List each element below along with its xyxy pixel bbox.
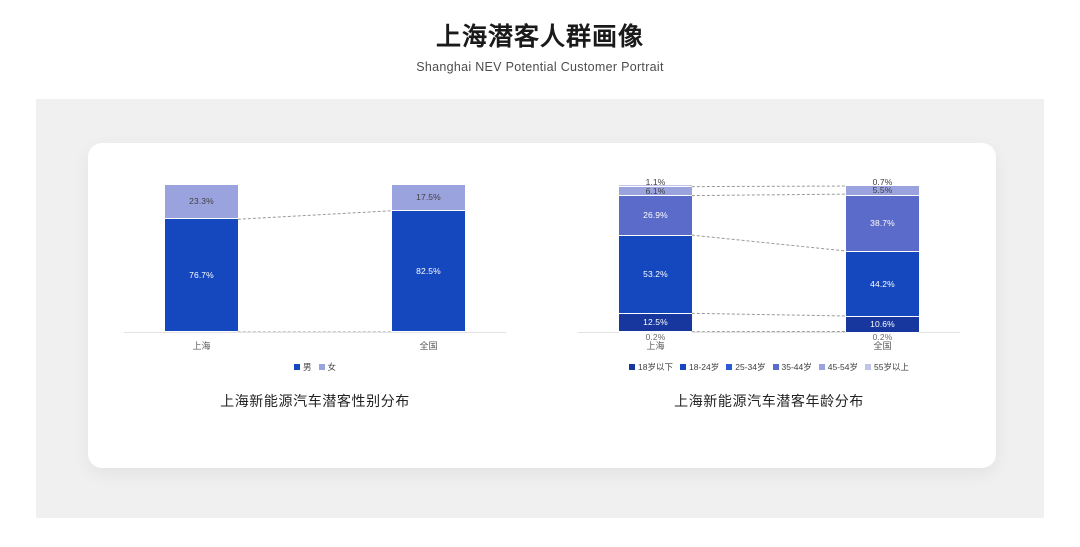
page-header: 上海潜客人群画像 Shanghai NEV Potential Customer… (0, 0, 1080, 74)
legend-swatch-icon (726, 364, 732, 370)
chart-legend: 男女 (88, 361, 542, 373)
segment-value-label: 5.5% (873, 186, 893, 195)
bar-segment[interactable]: 10.6% (846, 317, 919, 333)
legend-swatch-icon (773, 364, 779, 370)
legend-swatch-icon (865, 364, 871, 370)
bar-segment[interactable]: 17.5% (392, 185, 465, 211)
legend-item[interactable]: 35-44岁 (773, 361, 812, 373)
bar-segment[interactable]: 26.9% (619, 196, 692, 236)
bar-segment[interactable]: 82.5% (392, 211, 465, 332)
legend-item[interactable]: 55岁以上 (865, 361, 909, 373)
category-axis: 上海全国 (542, 339, 996, 355)
segment-value-label: 53.2% (643, 270, 668, 279)
axis-line (124, 332, 505, 333)
bar-age-上海[interactable]: 1.1%6.1%26.9%53.2%12.5%0.2% (619, 185, 692, 332)
legend-label: 18-24岁 (689, 361, 719, 373)
legend-item[interactable]: 女 (319, 361, 337, 373)
legend-label: 男 (303, 361, 312, 373)
chart-age: 1.1%6.1%26.9%53.2%12.5%0.2%0.7%5.5%38.7%… (542, 143, 996, 468)
legend-swatch-icon (629, 364, 635, 370)
bar-segment[interactable]: 76.7% (165, 219, 238, 332)
legend-swatch-icon (319, 364, 325, 370)
bar-stack: 1.1%6.1%26.9%53.2%12.5%0.2% (619, 185, 692, 332)
legend-item[interactable]: 45-54岁 (819, 361, 858, 373)
legend-label: 35-44岁 (782, 361, 812, 373)
bar-gender-全国[interactable]: 17.5%82.5% (392, 185, 465, 332)
chart-gender: 23.3%76.7%17.5%82.5%上海全国男女上海新能源汽车潜客性别分布 (88, 143, 542, 468)
legend-swatch-icon (294, 364, 300, 370)
category-label: 上海 (192, 339, 210, 352)
legend-label: 45-54岁 (828, 361, 858, 373)
bar-stack: 23.3%76.7% (165, 185, 238, 332)
bar-segment[interactable]: 44.2% (846, 252, 919, 317)
legend-item[interactable]: 18-24岁 (680, 361, 719, 373)
segment-value-label: 12.5% (643, 318, 668, 327)
category-label: 全国 (873, 339, 891, 352)
legend-label: 25-34岁 (735, 361, 765, 373)
bar-gender-上海[interactable]: 23.3%76.7% (165, 185, 238, 332)
charts-card: 23.3%76.7%17.5%82.5%上海全国男女上海新能源汽车潜客性别分布1… (88, 143, 996, 468)
segment-value-label: 76.7% (189, 271, 214, 280)
page-subtitle: Shanghai NEV Potential Customer Portrait (0, 60, 1080, 74)
legend-label: 女 (328, 361, 337, 373)
bar-segment[interactable]: 0.2% (619, 332, 692, 333)
category-axis: 上海全国 (88, 339, 542, 355)
chart-caption: 上海新能源汽车潜客性别分布 (88, 391, 542, 411)
segment-value-label: 10.6% (870, 320, 895, 329)
bar-age-全国[interactable]: 0.7%5.5%38.7%44.2%10.6%0.2% (846, 185, 919, 332)
bar-segment[interactable]: 23.3% (165, 185, 238, 219)
segment-value-label: 23.3% (189, 197, 214, 206)
plot-area: 23.3%76.7%17.5%82.5% (88, 185, 542, 333)
chart-caption: 上海新能源汽车潜客年龄分布 (542, 391, 996, 411)
legend-item[interactable]: 25-34岁 (726, 361, 765, 373)
chart-legend: 18岁以下18-24岁25-34岁35-44岁45-54岁55岁以上 (542, 361, 996, 373)
segment-value-label: 38.7% (870, 219, 895, 228)
bar-stack: 17.5%82.5% (392, 185, 465, 332)
segment-value-label: 26.9% (643, 211, 668, 220)
legend-swatch-icon (680, 364, 686, 370)
bar-segment[interactable]: 5.5% (846, 186, 919, 196)
segment-value-label: 6.1% (646, 187, 666, 196)
legend-label: 55岁以上 (874, 361, 909, 373)
segment-value-label: 17.5% (416, 193, 441, 202)
bar-segment[interactable]: 53.2% (619, 236, 692, 314)
charts-row: 23.3%76.7%17.5%82.5%上海全国男女上海新能源汽车潜客性别分布1… (88, 143, 996, 468)
bar-segment[interactable]: 12.5% (619, 314, 692, 332)
legend-swatch-icon (819, 364, 825, 370)
segment-value-label: 44.2% (870, 280, 895, 289)
segment-value-label: 82.5% (416, 267, 441, 276)
bar-segment[interactable]: 0.2% (846, 333, 919, 334)
bar-segment[interactable]: 6.1% (619, 187, 692, 197)
plot-area: 1.1%6.1%26.9%53.2%12.5%0.2%0.7%5.5%38.7%… (542, 185, 996, 333)
legend-item[interactable]: 男 (294, 361, 312, 373)
category-label: 上海 (646, 339, 664, 352)
legend-item[interactable]: 18岁以下 (629, 361, 673, 373)
bar-stack: 0.7%5.5%38.7%44.2%10.6%0.2% (846, 185, 919, 332)
category-label: 全国 (419, 339, 437, 352)
page-title: 上海潜客人群画像 (0, 22, 1080, 53)
legend-label: 18岁以下 (638, 361, 673, 373)
bar-segment[interactable]: 38.7% (846, 196, 919, 253)
